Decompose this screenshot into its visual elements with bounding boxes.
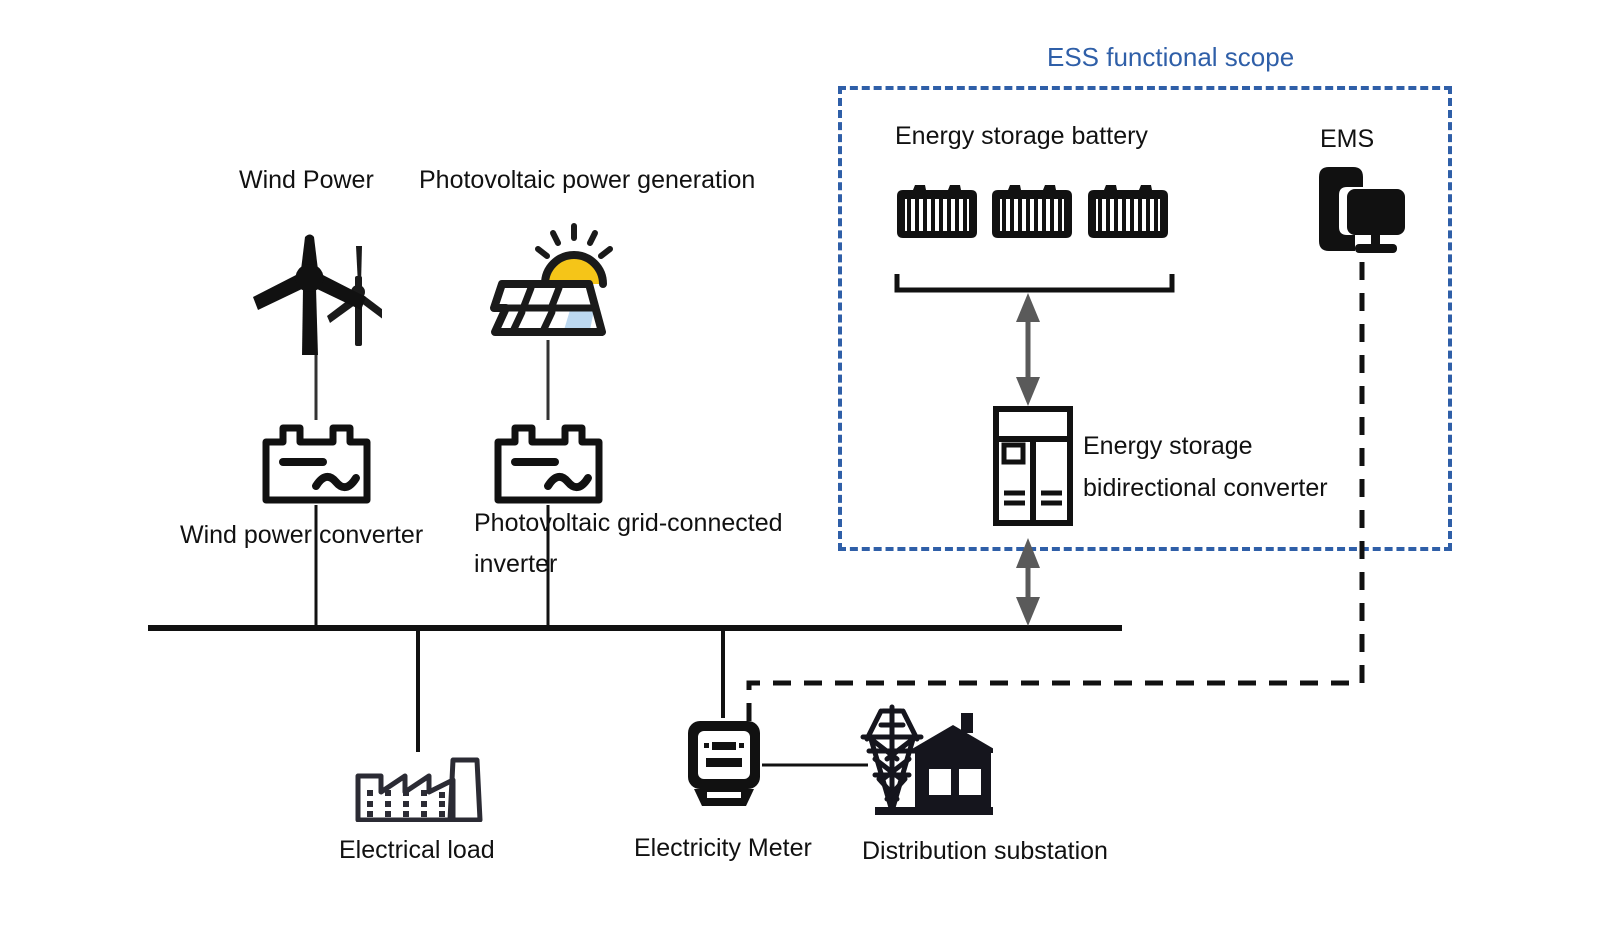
factory-icon: [353, 752, 485, 822]
label-pv-inverter-line2: inverter: [474, 549, 557, 580]
label-pv-generation: Photovoltaic power generation: [419, 165, 755, 196]
ess-scope-title: ESS functional scope: [1047, 42, 1294, 73]
wind-turbine-icon: [252, 230, 382, 355]
battery-icon-2: [988, 182, 1076, 242]
label-ems: EMS: [1320, 124, 1374, 155]
electricity-meter-icon: [685, 718, 763, 810]
power-converter-icon-wind: [261, 420, 372, 505]
battery-icon-3: [1084, 182, 1172, 242]
label-wind-power: Wind Power: [239, 165, 374, 196]
label-converter-line1: Energy storage: [1083, 431, 1253, 462]
label-electricity-meter: Electricity Meter: [634, 833, 812, 864]
arrow-converter-to-bus: [1016, 538, 1040, 626]
battery-icon-1: [893, 182, 981, 242]
label-distribution-substation: Distribution substation: [862, 836, 1108, 867]
label-converter-line2: bidirectional converter: [1083, 473, 1328, 504]
converter-cabinet-icon: [993, 406, 1073, 526]
label-energy-storage-battery: Energy storage battery: [895, 121, 1148, 152]
label-wind-power-converter: Wind power converter: [180, 520, 423, 551]
label-electrical-load: Electrical load: [339, 835, 495, 866]
solar-panel-icon: [478, 222, 618, 340]
transmission-tower-house-icon: [853, 703, 993, 818]
power-system-diagram: ESS functional scope Wind Power Photovol…: [0, 0, 1599, 926]
computer-monitor-icon: [1311, 165, 1411, 260]
power-converter-icon-pv: [493, 420, 604, 505]
label-pv-inverter-line1: Photovoltaic grid-connected: [474, 508, 783, 539]
